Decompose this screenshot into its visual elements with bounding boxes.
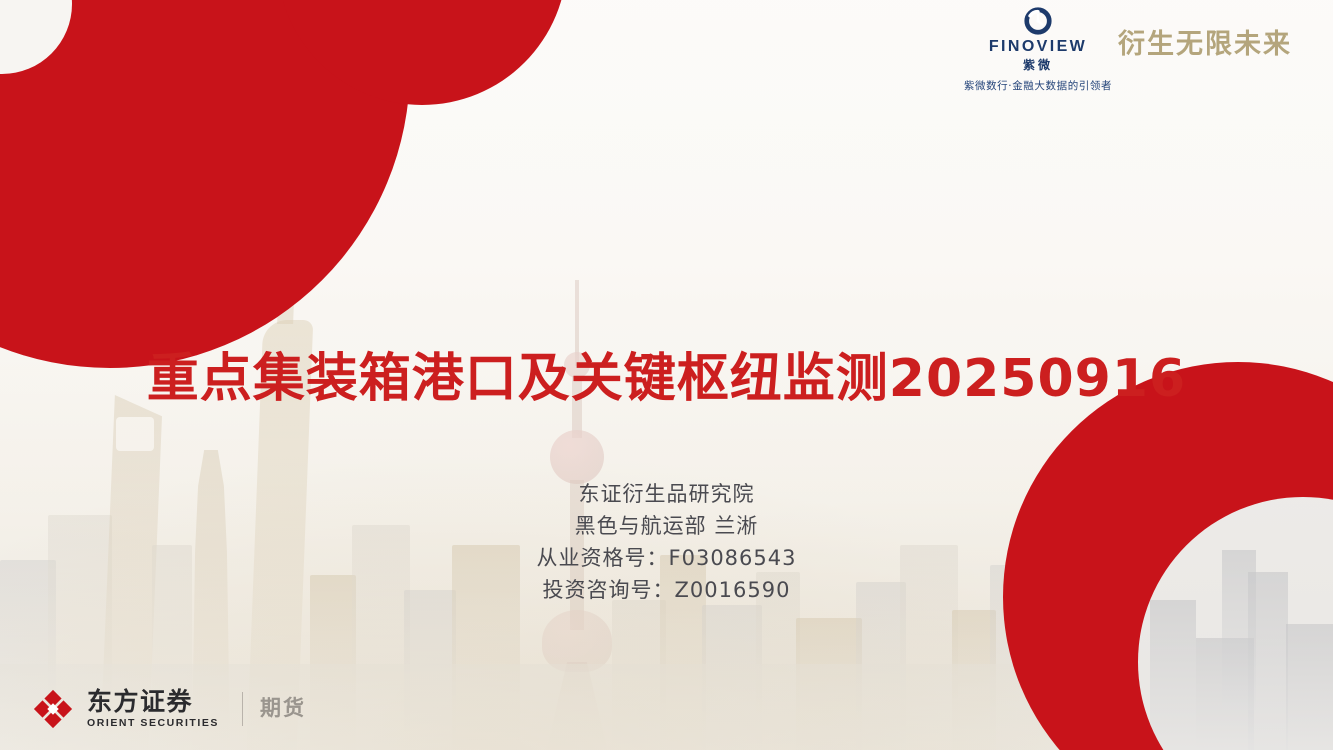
page-title: 重点集装箱港口及关键枢纽监测20250916 (0, 350, 1333, 408)
author-block: 东证衍生品研究院 黑色与航运部 兰淅 从业资格号：F03086543 投资咨询号… (0, 478, 1333, 607)
orient-securities-diamond-icon (32, 688, 74, 730)
brand-slogan: 衍生无限未来 (1118, 31, 1292, 58)
byline-institute: 东证衍生品研究院 (0, 478, 1333, 510)
corporate-logo-orient-securities: 东方证券 ORIENT SECURITIES 期货 (32, 688, 306, 730)
corporate-logo-business-line: 期货 (260, 697, 306, 720)
logo-divider (242, 692, 243, 726)
byline-consulting-number: 投资咨询号：Z0016590 (0, 574, 1333, 606)
partner-logo-name-cn: 紫微 (944, 59, 1132, 72)
byline-practice-number: 从业资格号：F03086543 (0, 542, 1333, 574)
partner-logo-finoview: FINOVIEW 紫微 紫微数行·金融大数据的引领者 (944, 6, 1132, 93)
presentation-slide: FINOVIEW 紫微 紫微数行·金融大数据的引领者 衍生无限未来 重点集装箱港… (0, 0, 1333, 750)
partner-logo-name-en: FINOVIEW (944, 39, 1132, 56)
corporate-logo-name-en: ORIENT SECURITIES (87, 718, 219, 729)
byline-department-author: 黑色与航运部 兰淅 (0, 510, 1333, 542)
corporate-logo-name-cn: 东方证券 (87, 689, 219, 716)
partner-logo-tagline: 紫微数行·金融大数据的引领者 (944, 81, 1132, 93)
finoview-swirl-icon (1023, 6, 1053, 36)
